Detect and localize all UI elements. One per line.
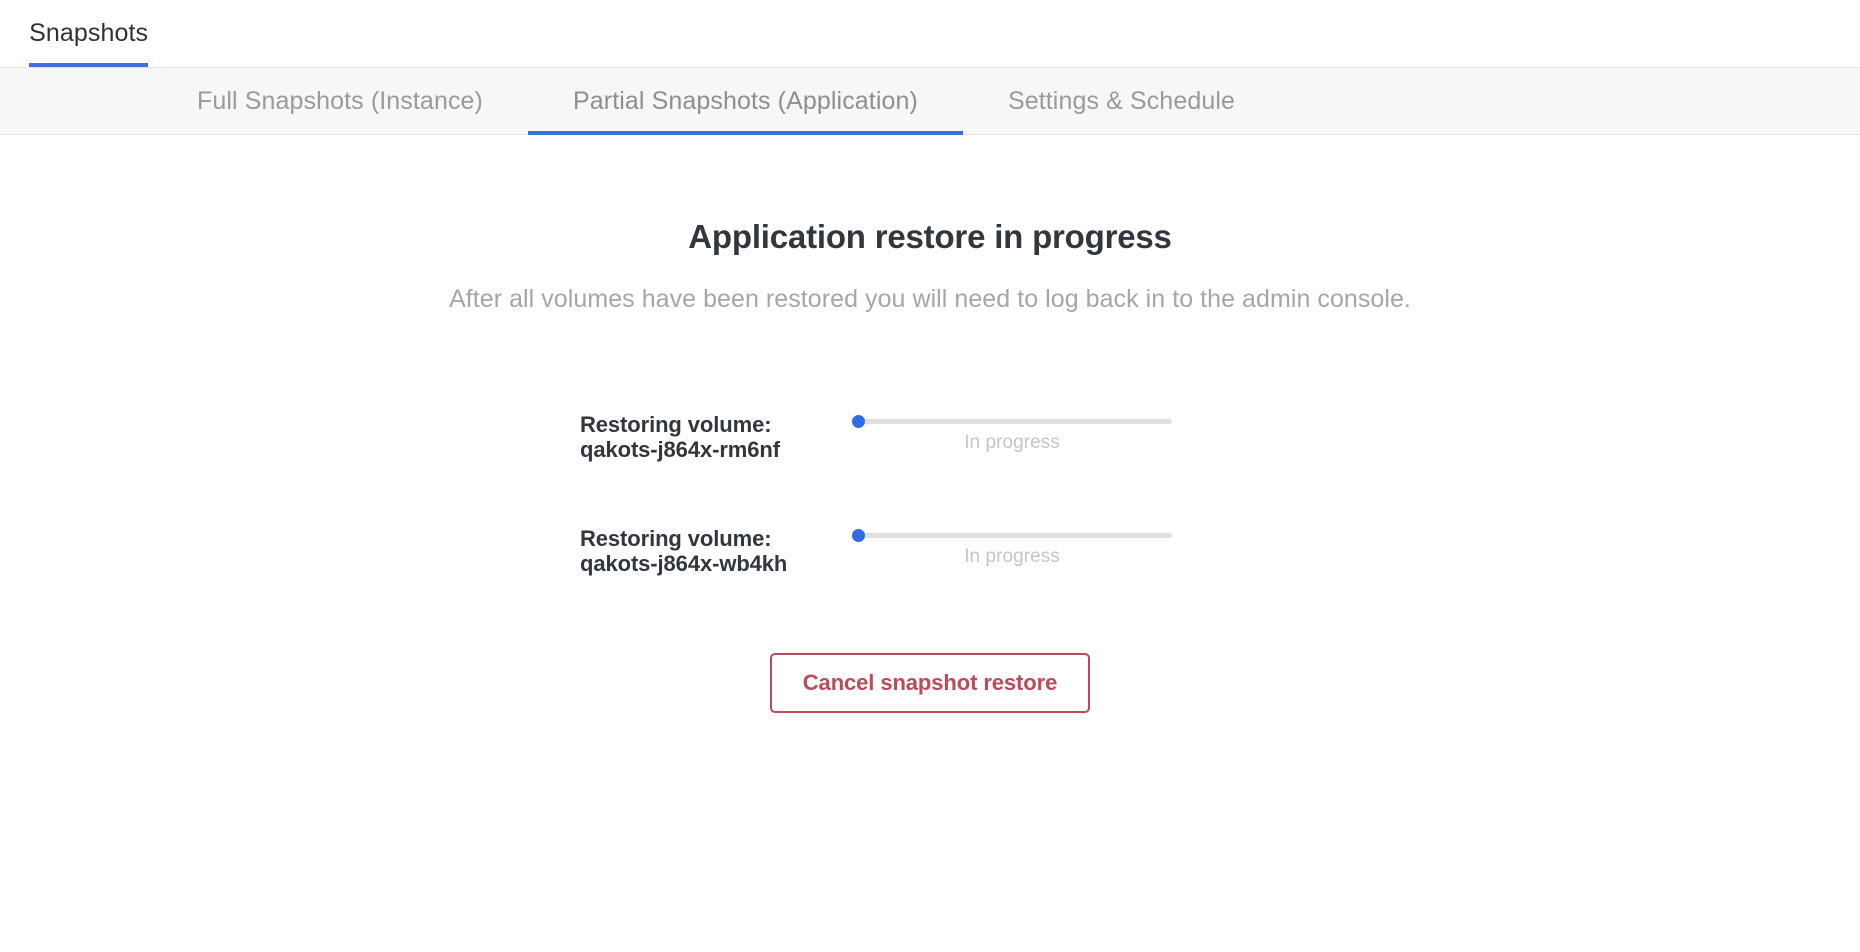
volume-progress-indicator-dot (852, 529, 865, 542)
page-subtitle: After all volumes have been restored you… (0, 256, 1860, 314)
volume-restore-label: Restoring volume: qakots-j864x-rm6nf (580, 406, 848, 462)
volume-restore-name: qakots-j864x-rm6nf (580, 438, 848, 463)
subtab-partial-snapshots-application-label: Partial Snapshots (Application) (573, 87, 918, 116)
cancel-button-container: Cancel snapshot restore (0, 653, 1860, 713)
volume-progress-status: In progress (852, 432, 1172, 454)
volume-restore-row: Restoring volume: qakots-j864x-rm6nf In … (580, 406, 1280, 462)
volume-restore-list: Restoring volume: qakots-j864x-rm6nf In … (580, 314, 1280, 577)
subtab-settings-and-schedule-label: Settings & Schedule (1008, 87, 1235, 116)
tab-snapshots[interactable]: Snapshots (29, 0, 148, 67)
page-title: Application restore in progress (0, 135, 1860, 256)
volume-progress-block: In progress (848, 406, 1280, 454)
volume-progress-block: In progress (848, 520, 1280, 568)
main-content: Application restore in progress After al… (0, 135, 1860, 952)
volume-restore-label-prefix: Restoring volume: (580, 413, 848, 438)
volume-progress-status: In progress (852, 546, 1172, 568)
primary-tab-bar: nt Snapshots (0, 0, 1860, 67)
volume-progress-bar (852, 419, 1172, 424)
volume-restore-name: qakots-j864x-wb4kh (580, 552, 848, 577)
volume-progress-indicator-dot (852, 415, 865, 428)
subtab-partial-snapshots-application[interactable]: Partial Snapshots (Application) (528, 68, 963, 134)
volume-restore-label-prefix: Restoring volume: (580, 527, 848, 552)
tab-clipped-previous[interactable]: nt (0, 0, 29, 67)
subtab-full-snapshots-instance-label: Full Snapshots (Instance) (197, 87, 483, 116)
secondary-tab-bar: Full Snapshots (Instance) Partial Snapsh… (0, 67, 1860, 135)
volume-restore-row: Restoring volume: qakots-j864x-wb4kh In … (580, 520, 1280, 576)
subtab-full-snapshots-instance[interactable]: Full Snapshots (Instance) (152, 68, 528, 134)
tab-snapshots-label: Snapshots (29, 19, 148, 48)
cancel-snapshot-restore-button[interactable]: Cancel snapshot restore (770, 653, 1090, 713)
subtab-settings-and-schedule[interactable]: Settings & Schedule (963, 68, 1280, 134)
volume-progress-bar (852, 533, 1172, 538)
volume-restore-label: Restoring volume: qakots-j864x-wb4kh (580, 520, 848, 576)
